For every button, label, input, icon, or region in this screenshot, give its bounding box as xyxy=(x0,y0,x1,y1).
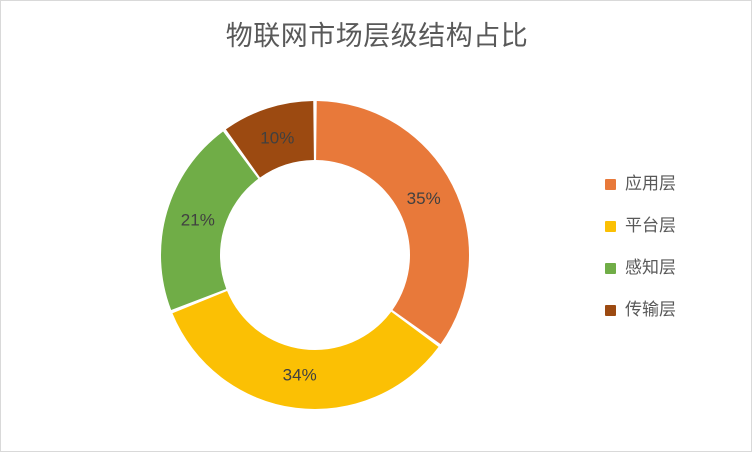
legend-item-label: 应用层 xyxy=(625,174,676,194)
donut-slices-group xyxy=(161,101,469,409)
legend-item[interactable]: 感知层 xyxy=(605,247,735,289)
legend-swatch-icon xyxy=(605,179,616,190)
legend-swatch-icon xyxy=(605,221,616,232)
legend-swatch-icon xyxy=(605,305,616,316)
donut-slice[interactable] xyxy=(316,101,469,344)
chart-canvas: 物联网市场层级结构占比 35%34%21%10% 应用层平台层感知层传输层 xyxy=(0,0,752,452)
donut-slice[interactable] xyxy=(161,131,258,310)
legend-swatch-icon xyxy=(605,263,616,274)
legend-item-label: 传输层 xyxy=(625,300,676,320)
chart-title: 物联网市场层级结构占比 xyxy=(1,19,752,53)
legend-item[interactable]: 传输层 xyxy=(605,289,735,331)
legend-item[interactable]: 应用层 xyxy=(605,163,735,205)
legend-item[interactable]: 平台层 xyxy=(605,205,735,247)
chart-legend: 应用层平台层感知层传输层 xyxy=(605,163,735,331)
legend-item-label: 平台层 xyxy=(625,216,676,236)
legend-item-label: 感知层 xyxy=(625,258,676,278)
